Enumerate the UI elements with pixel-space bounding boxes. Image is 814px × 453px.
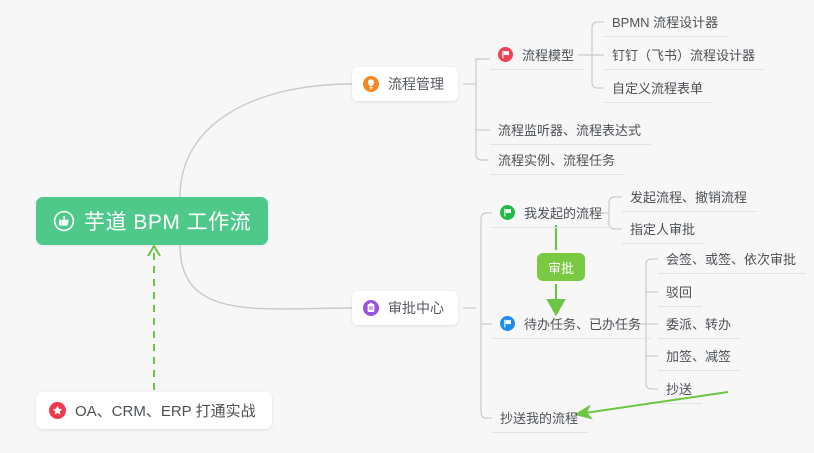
mindmap-canvas: 芋道 BPM 工作流 流程管理 流程模型 BPMN 流程设计器 钉钉 bbox=[0, 0, 814, 453]
node-start-cancel-process[interactable]: 发起流程、撤销流程 bbox=[622, 182, 757, 212]
annotation-label: 审批 bbox=[548, 258, 574, 277]
node-process-listener-expression[interactable]: 流程监听器、流程表达式 bbox=[490, 115, 651, 145]
node-cc-to-me-processes[interactable]: 抄送我的流程 bbox=[492, 403, 588, 433]
branch-process-management[interactable]: 流程管理 bbox=[352, 67, 458, 101]
annotation-approval-pill: 审批 bbox=[537, 253, 585, 281]
arrowhead-integration-to-root bbox=[148, 246, 160, 256]
node-add-remove-sign[interactable]: 加签、减签 bbox=[658, 341, 741, 371]
node-label: 抄送 bbox=[666, 379, 692, 398]
node-my-initiated-processes[interactable]: 我发起的流程 bbox=[492, 198, 612, 228]
node-label: 加签、减签 bbox=[666, 346, 731, 365]
annotation-integration-card[interactable]: OA、CRM、ERP 打通实战 bbox=[36, 392, 272, 429]
node-label: 流程模型 bbox=[522, 45, 574, 64]
node-label: 流程监听器、流程表达式 bbox=[498, 120, 641, 139]
root-label: 芋道 BPM 工作流 bbox=[84, 206, 251, 236]
node-label: 会签、或签、依次审批 bbox=[666, 249, 796, 268]
node-designated-approver[interactable]: 指定人审批 bbox=[622, 214, 705, 244]
star-icon bbox=[49, 402, 66, 419]
node-process-model[interactable]: 流程模型 bbox=[490, 40, 584, 70]
root-node[interactable]: 芋道 BPM 工作流 bbox=[36, 197, 268, 245]
node-todo-done-tasks[interactable]: 待办任务、已办任务 bbox=[492, 309, 651, 339]
branch-label: 审批中心 bbox=[388, 298, 444, 318]
flag-icon bbox=[498, 47, 513, 62]
link-model-spine bbox=[592, 22, 597, 88]
node-label: 待办任务、已办任务 bbox=[524, 314, 641, 333]
node-label: 委派、转办 bbox=[666, 314, 731, 333]
clipboard-icon bbox=[363, 300, 379, 316]
node-label: 驳回 bbox=[666, 282, 692, 301]
node-bpmn-designer[interactable]: BPMN 流程设计器 bbox=[604, 7, 728, 37]
node-label: 自定义流程表单 bbox=[612, 78, 703, 97]
node-label: 抄送我的流程 bbox=[500, 408, 578, 427]
node-carbon-copy[interactable]: 抄送 bbox=[658, 374, 702, 404]
branch-approval-center[interactable]: 审批中心 bbox=[352, 291, 458, 325]
node-delegate-transfer[interactable]: 委派、转办 bbox=[658, 309, 741, 339]
node-label: 发起流程、撤销流程 bbox=[630, 187, 747, 206]
node-process-instance-task[interactable]: 流程实例、流程任务 bbox=[490, 145, 625, 175]
branch-label: 流程管理 bbox=[388, 74, 444, 94]
node-dingtalk-feishu-designer[interactable]: 钉钉（飞书）流程设计器 bbox=[604, 40, 765, 70]
lightbulb-icon bbox=[363, 76, 379, 92]
node-label: 钉钉（飞书）流程设计器 bbox=[612, 45, 755, 64]
link-pm-spine bbox=[476, 59, 488, 160]
flag-icon bbox=[500, 205, 515, 220]
link-ac-spine bbox=[481, 213, 486, 418]
link-root-to-process-management bbox=[180, 84, 352, 197]
node-countersign-orsign-sequential[interactable]: 会签、或签、依次审批 bbox=[658, 244, 806, 274]
node-label: 流程实例、流程任务 bbox=[498, 150, 615, 169]
node-custom-process-form[interactable]: 自定义流程表单 bbox=[604, 73, 713, 103]
node-label: 我发起的流程 bbox=[524, 203, 602, 222]
node-reject[interactable]: 驳回 bbox=[658, 277, 702, 307]
flag-icon bbox=[500, 316, 515, 331]
annotation-label: OA、CRM、ERP 打通实战 bbox=[75, 400, 256, 421]
arrow-cc-to-cc-mine bbox=[578, 392, 728, 414]
node-label: BPMN 流程设计器 bbox=[612, 12, 718, 31]
node-label: 指定人审批 bbox=[630, 219, 695, 238]
thumbs-up-icon bbox=[53, 210, 75, 232]
link-root-to-approval-center bbox=[180, 245, 352, 309]
